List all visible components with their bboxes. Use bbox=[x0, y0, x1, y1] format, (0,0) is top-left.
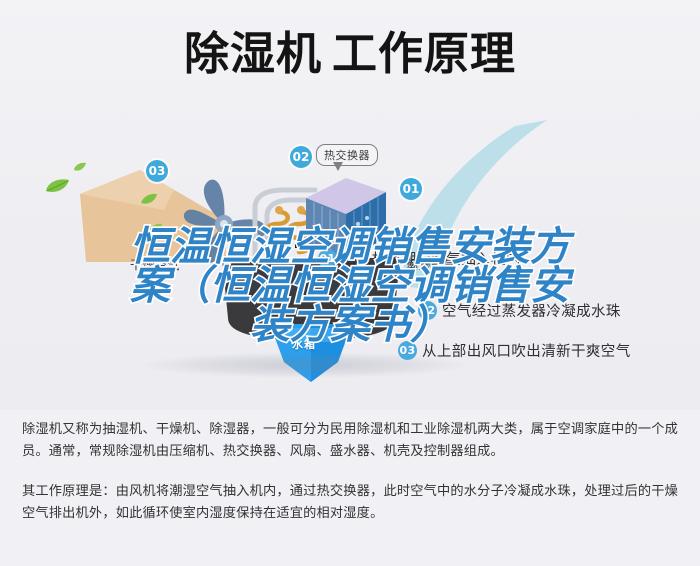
figure-title-part1: 除湿机 bbox=[184, 27, 322, 80]
infographic-figure: 除湿机工作原理 bbox=[0, 0, 700, 410]
legend-item-01: 01 由风机将潮湿空气抽入机内 bbox=[318, 248, 521, 269]
diagram-badge-03: 03 bbox=[146, 160, 168, 182]
legend-item-03: 03 从上部出风口吹出清新干爽空气 bbox=[398, 340, 631, 361]
diagram-badge-02: 02 bbox=[290, 146, 312, 168]
leaf-icon-2 bbox=[73, 159, 87, 177]
figure-title-part2: 工作原理 bbox=[332, 27, 516, 80]
legend-text-03: 从上部出风口吹出清新干爽空气 bbox=[422, 340, 631, 361]
article-paragraph-2: 其工作原理是：由风机将潮湿空气抽入机内，通过热交换器，此时空气中的水分子冷凝成水… bbox=[22, 481, 678, 525]
leaf-icon-4 bbox=[147, 221, 163, 239]
figure-title: 除湿机工作原理 bbox=[0, 28, 700, 80]
leaf-icon-1 bbox=[44, 178, 70, 199]
article-paragraph-1: 除湿机又称为抽湿机、干燥机、除湿器，一般可分为民用除湿机和工业除湿机两大类，属于… bbox=[22, 419, 678, 463]
legend-text-02: 空气经过蒸发器冷凝成水珠 bbox=[442, 300, 621, 321]
legend-badge-03: 03 bbox=[398, 341, 417, 360]
dry-air-label: 干燥空气 bbox=[130, 256, 180, 273]
legend-text-01: 由风机将潮湿空气抽入机内 bbox=[342, 248, 521, 269]
callout-tail-icon bbox=[333, 162, 343, 171]
legend-badge-02: 02 bbox=[418, 301, 437, 320]
article-body: 除湿机又称为抽湿机、干燥机、除湿器，一般可分为民用除湿机和工业除湿机两大类，属于… bbox=[22, 419, 678, 525]
heat-exchanger-callout: 热交换器 bbox=[316, 144, 378, 166]
article-page: 除湿机工作原理 bbox=[0, 0, 700, 566]
diagram-badge-01: 01 bbox=[400, 178, 422, 200]
legend-item-02: 02 空气经过蒸发器冷凝成水珠 bbox=[418, 300, 621, 321]
leaf-icon-3 bbox=[140, 192, 158, 210]
water-tank-label: 水箱 bbox=[292, 336, 316, 352]
legend-badge-01: 01 bbox=[318, 249, 337, 268]
